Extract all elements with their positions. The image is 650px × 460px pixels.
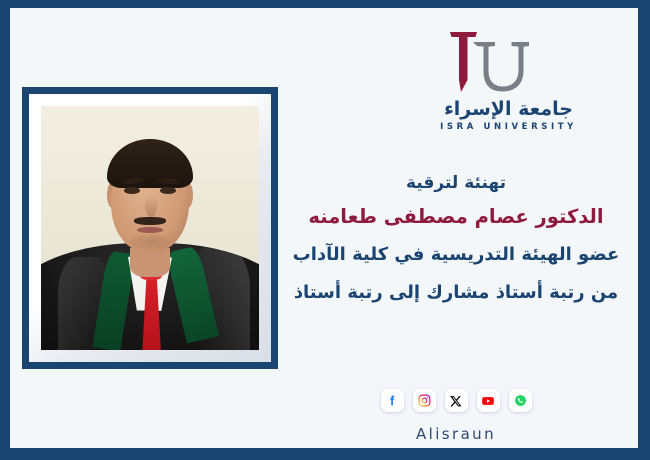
youtube-icon[interactable] xyxy=(477,389,500,412)
message-line-2-name: الدكتور عصام مصطفى طعامنه xyxy=(286,198,626,236)
facebook-icon[interactable] xyxy=(381,389,404,412)
social-links-row xyxy=(286,389,626,412)
whatsapp-icon[interactable] xyxy=(509,389,532,412)
portrait-photo xyxy=(41,106,259,350)
message-line-3: عضو الهيئة التدريسية في كلية الآداب xyxy=(286,236,626,274)
university-logo: جامعة الإسراء ISRA UNIVERSITY xyxy=(391,26,626,144)
instagram-icon[interactable] xyxy=(413,389,436,412)
iu-monogram-icon xyxy=(391,26,626,98)
portrait-frame xyxy=(22,87,278,369)
message-line-1: تهنئة لترقية xyxy=(286,168,626,198)
account-handle: Alisraun xyxy=(286,425,626,443)
nose xyxy=(145,195,157,217)
x-icon[interactable] xyxy=(445,389,468,412)
chin-shadow xyxy=(130,234,169,249)
poster-card: جامعة الإسراء ISRA UNIVERSITY تهنئة لترق… xyxy=(10,8,638,448)
logo-english-name: ISRA UNIVERSITY xyxy=(391,122,626,132)
congratulation-message: تهنئة لترقية الدكتور عصام مصطفى طعامنه ع… xyxy=(286,168,626,312)
logo-arabic-name: جامعة الإسراء xyxy=(391,98,626,120)
moustache xyxy=(134,217,167,225)
message-line-4: من رتبة أستاذ مشارك إلى رتبة أستاذ xyxy=(286,274,626,312)
